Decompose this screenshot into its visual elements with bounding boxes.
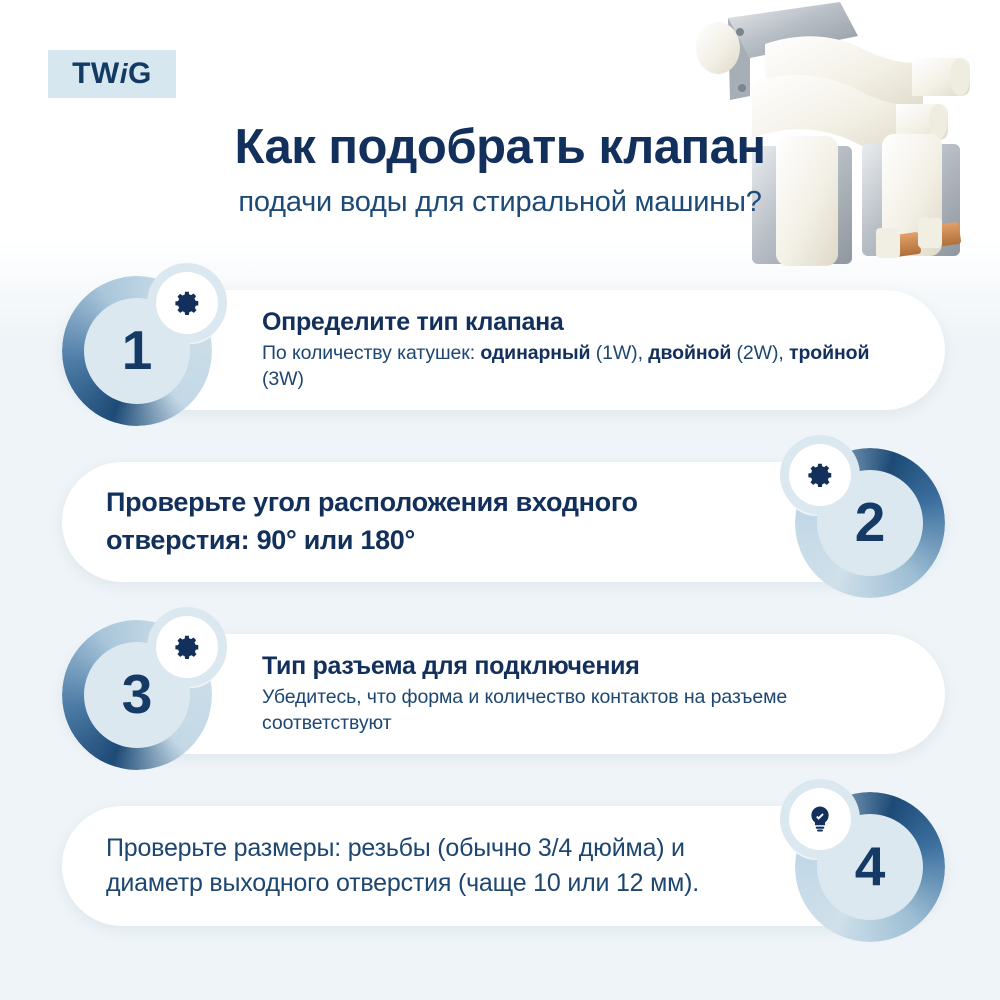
step-number-4: 4 — [855, 839, 886, 894]
brand-prefix: TW — [72, 57, 120, 90]
step-item-2: Проверьте угол расположения входного отв… — [0, 448, 1000, 594]
step-badge-4: 4 — [795, 792, 945, 942]
brand-suffix: G — [128, 57, 152, 90]
page-title: Как подобрать клапан — [0, 122, 1000, 173]
step-desc-3: Убедитесь, что форма и количество контак… — [262, 685, 875, 736]
step-desc-1: По количеству катушек: одинарный (1W), д… — [262, 341, 875, 392]
step-number-1: 1 — [122, 323, 153, 378]
gear-icon — [172, 632, 202, 662]
brand-logo-text: TWiG — [72, 57, 152, 91]
desc-text: (1W), — [590, 342, 648, 364]
step-item-4: Проверьте размеры: резьбы (обычно 3/4 дю… — [0, 792, 1000, 938]
page-subtitle: подачи воды для стиральной машины? — [0, 186, 1000, 219]
desc-bold: одинарный — [480, 342, 590, 364]
infographic-page: TWiG — [0, 0, 1000, 1000]
lightbulb-check-icon — [805, 804, 835, 834]
brand-logo: TWiG — [48, 50, 176, 98]
step-item-3: Тип разъема для подключения Убедитесь, ч… — [0, 620, 1000, 766]
step-badge-2: 2 — [795, 448, 945, 598]
step-badge-1: 1 — [62, 276, 212, 426]
step-title-1: Определите тип клапана — [262, 308, 875, 337]
step-icon-bubble-4 — [789, 788, 851, 850]
step-icon-bubble-2 — [789, 444, 851, 506]
headline-block: Как подобрать клапан подачи воды для сти… — [0, 122, 1000, 219]
desc-bold: тройной — [789, 342, 869, 364]
desc-bold: двойной — [648, 342, 731, 364]
desc-text: (2W), — [731, 342, 789, 364]
step-icon-bubble-3 — [156, 616, 218, 678]
desc-text: По количеству катушек: — [262, 342, 480, 364]
steps-list: Определите тип клапана По количеству кат… — [0, 276, 1000, 938]
gear-icon — [172, 288, 202, 318]
gear-icon — [805, 460, 835, 490]
step-number-3: 3 — [122, 667, 153, 722]
step-icon-bubble-1 — [156, 272, 218, 334]
step-title-4: Проверьте размеры: резьбы (обычно 3/4 дю… — [106, 831, 745, 902]
step-title-2: Проверьте угол расположения входного отв… — [106, 484, 745, 560]
step-badge-3: 3 — [62, 620, 212, 770]
step-item-1: Определите тип клапана По количеству кат… — [0, 276, 1000, 422]
desc-text: (3W) — [262, 368, 304, 390]
step-title-3: Тип разъема для подключения — [262, 652, 875, 681]
brand-italic-i: i — [120, 58, 128, 89]
step-number-2: 2 — [855, 495, 886, 550]
